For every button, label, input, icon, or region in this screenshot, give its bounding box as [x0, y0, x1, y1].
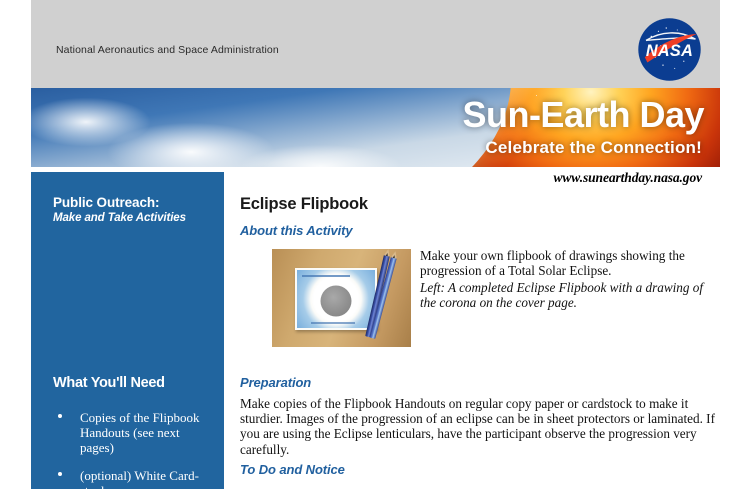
sidebar-heading-sub: Make and Take Activities [53, 212, 186, 224]
banner-subtitle: Celebrate the Connection! [485, 138, 702, 158]
earth-from-space-image [31, 88, 511, 167]
flipbook-cover-page [295, 268, 377, 330]
agency-name-text: National Aeronautics and Space Administr… [56, 44, 279, 56]
section-heading-preparation: Preparation [240, 375, 311, 390]
page-title: Eclipse Flipbook [240, 195, 368, 214]
document-page: National Aeronautics and Space Administr… [31, 0, 720, 489]
svg-text:NASA: NASA [646, 42, 693, 60]
main-content: Eclipse Flipbook About this Activity Mak… [240, 172, 720, 489]
moon-disk [321, 285, 352, 316]
list-item: (optional) White Card-stock [53, 468, 213, 489]
about-paragraph: Make your own flipbook of drawings showi… [420, 248, 720, 278]
banner-title: Sun-Earth Day [462, 94, 704, 136]
materials-list: Copies of the Flipbook Handouts (see nex… [53, 410, 213, 489]
list-item-label: Copies of the Flipbook Handouts (see nex… [80, 410, 200, 455]
sidebar-heading-main: Public Outreach: [53, 195, 159, 210]
preparation-paragraph: Make copies of the Flipbook Handouts on … [240, 396, 720, 457]
photo-caption: Left: A completed Eclipse Flipbook with … [420, 280, 720, 310]
handwritten-signature-line [311, 322, 355, 324]
section-heading-about: About this Activity [240, 223, 352, 238]
list-item-label: (optional) White Card-stock [80, 468, 199, 489]
bullet-icon [58, 414, 62, 418]
list-item: Copies of the Flipbook Handouts (see nex… [53, 410, 213, 455]
nasa-meatball-logo: NASA [637, 17, 702, 82]
handwritten-title-line [302, 275, 350, 277]
sun-earth-day-banner: Sun-Earth Day Celebrate the Connection! [31, 88, 720, 167]
bullet-icon [58, 472, 62, 476]
what-youll-need-heading: What You'll Need [53, 375, 165, 391]
nasa-header-bar: National Aeronautics and Space Administr… [31, 0, 720, 88]
sidebar: Public Outreach: Make and Take Activitie… [31, 172, 224, 489]
flipbook-photo [272, 249, 411, 347]
section-heading-to-do-and-notice: To Do and Notice [240, 462, 345, 477]
